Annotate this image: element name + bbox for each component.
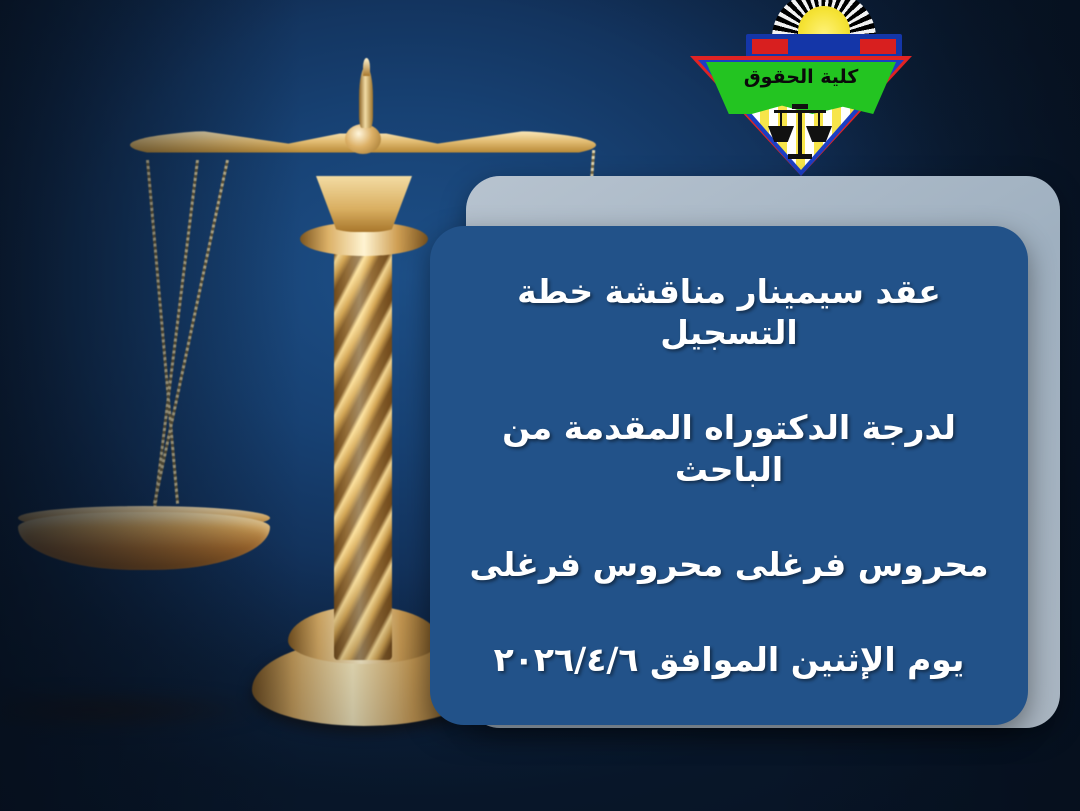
scale-icon-wire-right [818, 113, 820, 127]
scale-icon-pan-left [768, 126, 794, 142]
scale-icon-post [798, 110, 802, 156]
announcement-line-1: عقد سيمينار مناقشة خطة التسجيل [452, 271, 1006, 354]
announcement-line-2: لدرجة الدكتوراه المقدمة من الباحث [452, 407, 1006, 490]
logo-caption: كلية الحقوق [706, 66, 896, 88]
announcement-line-4: يوم الإثنين الموافق ٢٠٢٦/٤/٦ [452, 639, 1006, 680]
announcement-line-3: محروس فرغلى محروس فرغلى [452, 544, 1006, 585]
logo-top-bar-blue [788, 39, 860, 54]
announcement-poster: كلية الحقوق عقد سيمينار مناقشة خطة التسج… [0, 0, 1080, 811]
announcement-card: عقد سيمينار مناقشة خطة التسجيل لدرجة الد… [430, 226, 1028, 725]
scale-icon-pan-right [806, 126, 832, 142]
faculty-logo: كلية الحقوق [676, 0, 924, 176]
scale-icon-top [792, 104, 808, 109]
balance-scale-icon [768, 104, 832, 160]
scale-icon-base [788, 154, 812, 159]
scale-icon-wire-left [780, 113, 782, 127]
